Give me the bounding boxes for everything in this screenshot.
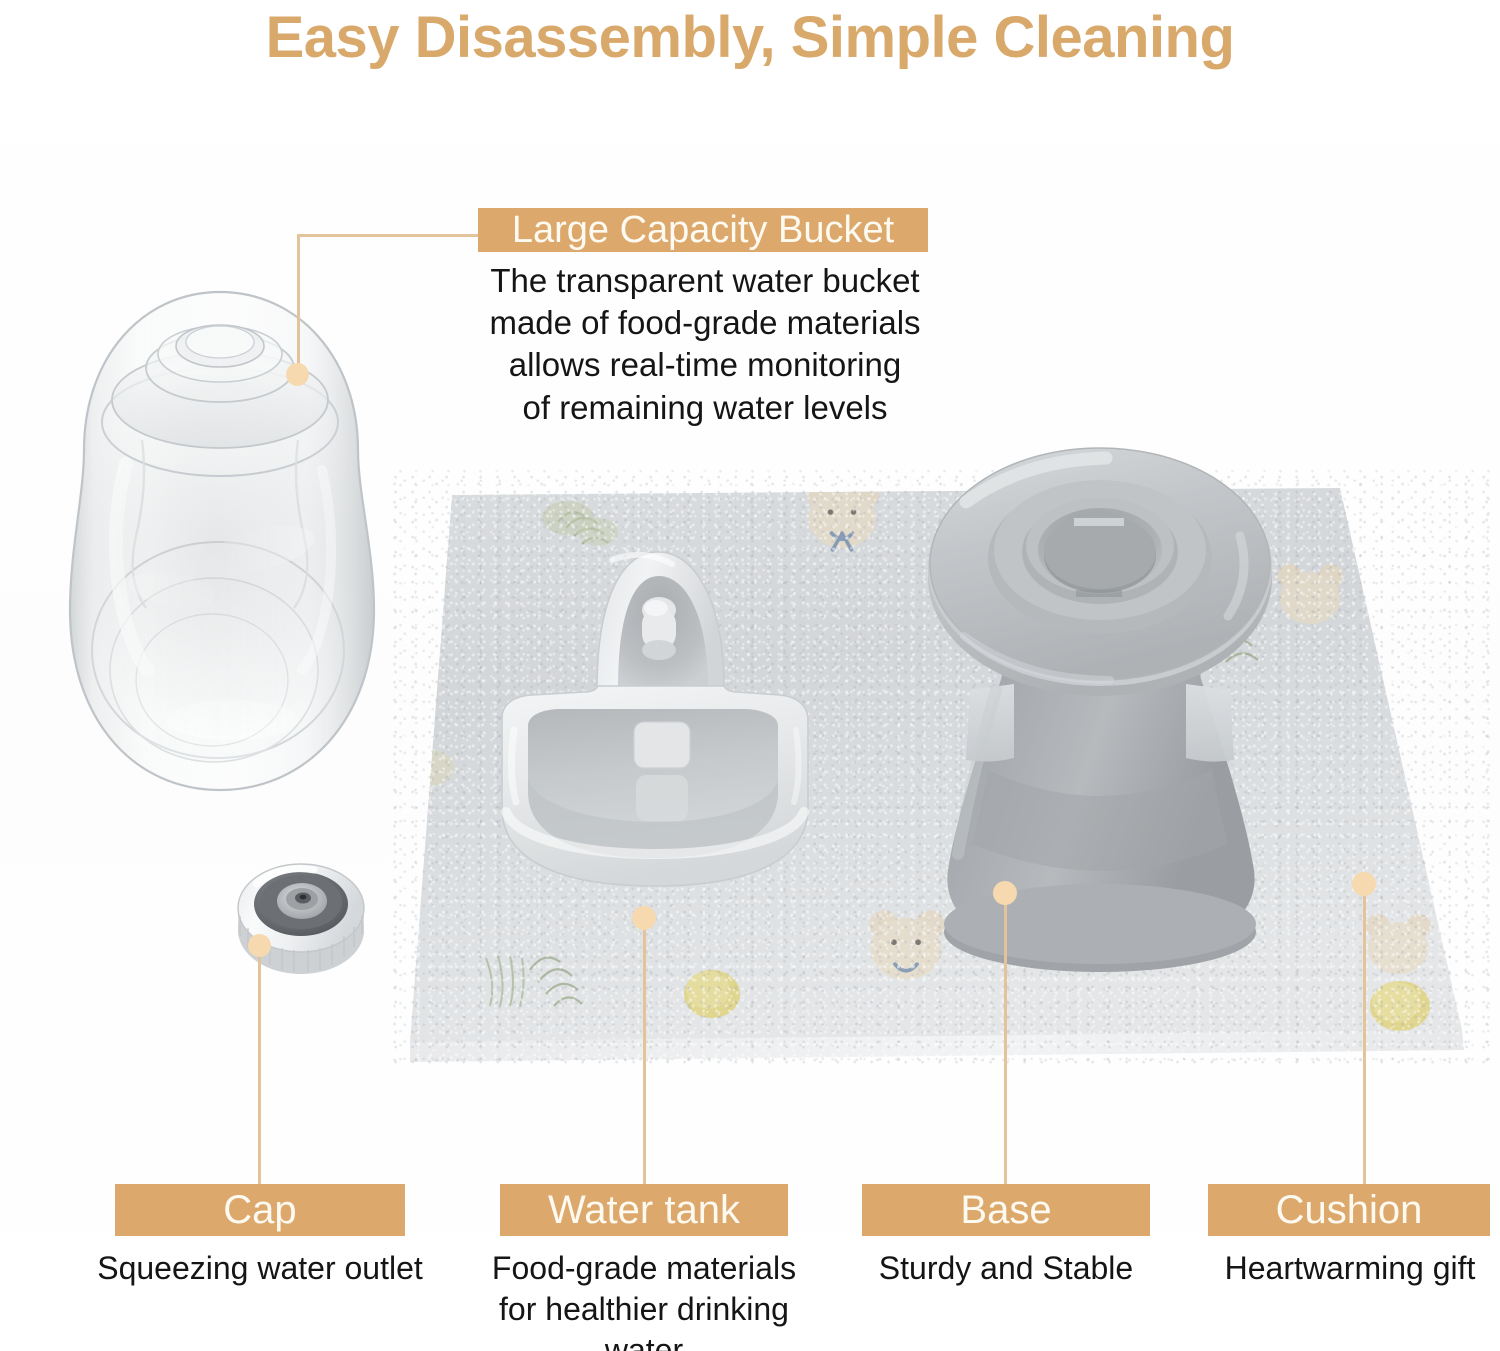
callout-banner-bucket: Large Capacity Bucket xyxy=(478,208,928,252)
base-graphic xyxy=(900,440,1300,1010)
leader-line-bucket-horizontal xyxy=(297,234,481,237)
water-tank-graphic xyxy=(462,540,842,960)
callout-description-bucket-line-1: The transparent water bucket xyxy=(452,260,958,302)
callout-banner-cap: Cap xyxy=(115,1184,405,1236)
callout-description-bucket-line-2: made of food-grade materials xyxy=(452,302,958,344)
leader-dot-bucket xyxy=(286,363,309,386)
leader-dot-cap xyxy=(248,934,271,957)
leader-line-cushion xyxy=(1363,884,1366,1186)
callout-description-bucket: The transparent water bucket made of foo… xyxy=(452,260,958,429)
callout-description-cap-line-1: Squeezing water outlet xyxy=(70,1248,450,1289)
page-title: Easy Disassembly, Simple Cleaning xyxy=(0,4,1500,71)
callout-description-water-tank-line-2: for healthier drinking xyxy=(474,1289,814,1330)
callout-banner-base: Base xyxy=(862,1184,1150,1236)
leader-line-water-tank xyxy=(643,918,646,1186)
callout-banner-cushion: Cushion xyxy=(1208,1184,1490,1236)
leader-line-base xyxy=(1004,893,1007,1186)
callout-description-water-tank-line-1: Food-grade materials xyxy=(474,1248,814,1289)
callout-description-cushion: Heartwarming gift xyxy=(1200,1248,1500,1289)
callout-description-bucket-line-3: allows real-time monitoring xyxy=(452,344,958,386)
water-bucket-graphic xyxy=(22,250,422,850)
leader-dot-cushion xyxy=(1352,872,1376,896)
cap-graphic xyxy=(226,846,376,996)
leader-dot-base xyxy=(993,881,1017,905)
leader-line-bucket-vertical xyxy=(297,234,300,374)
callout-description-bucket-line-4: of remaining water levels xyxy=(452,387,958,429)
callout-banner-water-tank: Water tank xyxy=(500,1184,788,1236)
callout-description-base-line-1: Sturdy and Stable xyxy=(856,1248,1156,1289)
callout-description-cap: Squeezing water outlet xyxy=(70,1248,450,1289)
callout-description-water-tank-line-3: water xyxy=(474,1330,814,1351)
callout-description-cushion-line-1: Heartwarming gift xyxy=(1200,1248,1500,1289)
callout-description-water-tank: Food-grade materials for healthier drink… xyxy=(474,1248,814,1351)
leader-dot-water-tank xyxy=(632,906,656,930)
infographic-canvas: Easy Disassembly, Simple Cleaning xyxy=(0,0,1500,1351)
callout-description-base: Sturdy and Stable xyxy=(856,1248,1156,1289)
leader-line-cap xyxy=(258,946,261,1186)
